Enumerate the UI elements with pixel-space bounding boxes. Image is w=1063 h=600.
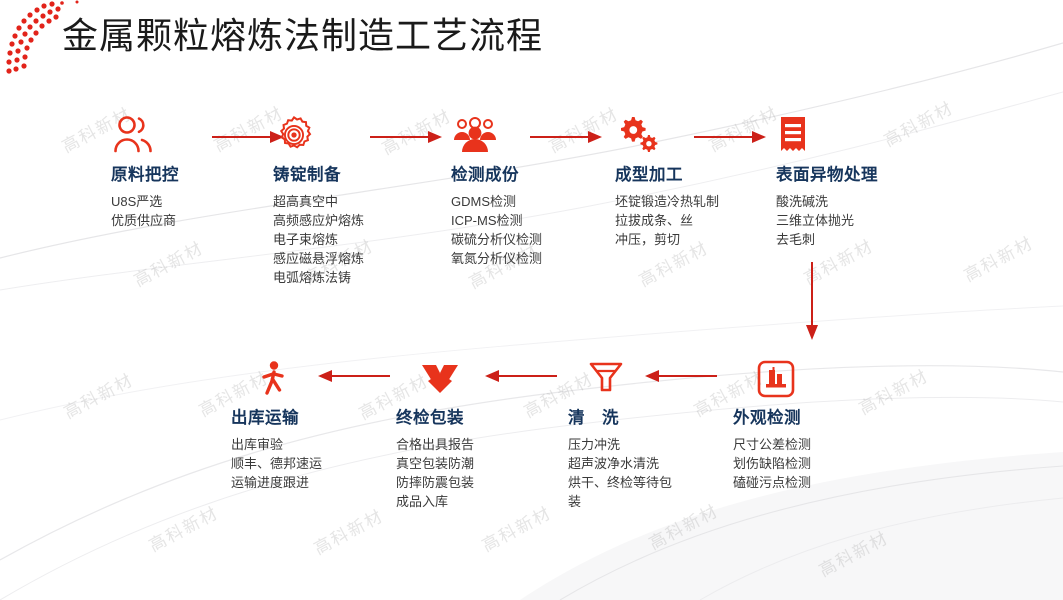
watermark: 高科新材 [144,499,223,557]
step-detail-line: 合格出具报告 [396,435,546,454]
step-raw-material-control[interactable]: 原料把控 U8S严选 优质供应商 [111,115,261,230]
step-detail-lines: 出库审验 顺丰、德邦速运 运输进度跟进 [231,435,381,492]
step-detail-line: 电子束熔炼 [273,230,423,249]
step-icon-wrap [776,115,936,155]
step-detail-line: 高频感应炉熔炼 [273,211,423,230]
step-icon-wrap [111,115,261,155]
watermark: 高科新材 [959,229,1038,287]
step-composition-testing[interactable]: 检测成份 GDMS检测 ICP-MS检测 碳硫分析仪检测 氧氮分析仪检测 [451,115,601,268]
step-icon-wrap [568,358,686,398]
step-icon-wrap [451,115,601,155]
document-lines-icon [776,115,810,155]
step-title: 出库运输 [231,404,381,428]
step-detail-line: 防摔防震包装 [396,473,546,492]
step-detail-line: 顺丰、德邦速运 [231,454,381,473]
step-detail-lines: 压力冲洗 超声波净水清洗 烘干、终检等待包装 [568,435,673,511]
step-appearance-inspection[interactable]: 外观检测 尺寸公差检测 划伤缺陷检测 磕碰污点检测 [733,358,883,492]
step-detail-line: 优质供应商 [111,211,261,230]
step-detail-line: 磕碰污点检测 [733,473,883,492]
step-title: 终检包装 [396,404,546,428]
step-title: 外观检测 [733,404,883,428]
step-detail-line: 三维立体抛光 [776,211,936,230]
step-surface-treatment[interactable]: 表面异物处理 酸洗碱洗 三维立体抛光 去毛刺 [776,115,936,249]
step-detail-lines: 酸洗碱洗 三维立体抛光 去毛刺 [776,192,936,249]
step-cleaning[interactable]: 清 洗 压力冲洗 超声波净水清洗 烘干、终检等待包装 [568,358,686,511]
step-detail-line: 超高真空中 [273,192,423,211]
step-detail-line: 划伤缺陷检测 [733,454,883,473]
step-icon-wrap [231,358,381,398]
arrow-step5-to-step6 [803,262,821,340]
step-detail-line: 碳硫分析仪检测 [451,230,601,249]
step-detail-line: 超声波净水清洗 [568,454,673,473]
people-group-icon [451,115,499,155]
step-detail-line: 出库审验 [231,435,381,454]
step-detail-line: GDMS检测 [451,192,601,211]
step-detail-line: 去毛刺 [776,230,936,249]
step-title: 成型加工 [615,161,775,185]
step-detail-line: 烘干、终检等待包装 [568,473,673,511]
step-detail-lines: 超高真空中 高频感应炉熔炼 电子束熔炼 感应磁悬浮熔炼 电弧熔炼法铸 [273,192,423,287]
step-detail-line: 酸洗碱洗 [776,192,936,211]
step-detail-line: U8S严选 [111,192,261,211]
step-outbound-shipping[interactable]: 出库运输 出库审验 顺丰、德邦速运 运输进度跟进 [231,358,381,492]
step-detail-line: 真空包装防潮 [396,454,546,473]
step-detail-line: 成品入库 [396,492,546,511]
step-title: 清 洗 [568,404,686,428]
open-box-icon [418,360,462,398]
step-title: 检测成份 [451,161,601,185]
step-icon-wrap [396,358,546,398]
double-gear-icon [615,115,661,155]
step-icon-wrap [273,115,423,155]
step-detail-line: ICP-MS检测 [451,211,601,230]
watermark: 高科新材 [309,502,388,560]
step-forming-processing[interactable]: 成型加工 坯锭锻造冷热轧制 拉拔成条、丝 冲压，剪切 [615,115,775,249]
step-detail-lines: 坯锭锻造冷热轧制 拉拔成条、丝 冲压，剪切 [615,192,775,249]
step-title: 铸锭制备 [273,161,423,185]
watermark: 高科新材 [59,366,138,424]
step-icon-wrap [615,115,775,155]
step-detail-line: 电弧熔炼法铸 [273,268,423,287]
step-ingot-preparation[interactable]: 铸锭制备 超高真空中 高频感应炉熔炼 电子束熔炼 感应磁悬浮熔炼 电弧熔炼法铸 [273,115,423,287]
funnel-icon [588,360,624,398]
step-detail-lines: 尺寸公差检测 划伤缺陷检测 磕碰污点检测 [733,435,883,492]
watermark: 高科新材 [129,234,208,292]
step-detail-line: 坯锭锻造冷热轧制 [615,192,775,211]
step-detail-line: 尺寸公差检测 [733,435,883,454]
gear-concentric-icon [273,115,315,155]
step-detail-line: 冲压，剪切 [615,230,775,249]
page-title: 金属颗粒熔炼法制造工艺流程 [62,7,543,59]
two-people-icon [111,115,155,155]
step-detail-line: 感应磁悬浮熔炼 [273,249,423,268]
step-detail-line: 运输进度跟进 [231,473,381,492]
step-detail-lines: GDMS检测 ICP-MS检测 碳硫分析仪检测 氧氮分析仪检测 [451,192,601,268]
watermark: 高科新材 [814,524,893,582]
walking-person-icon [255,360,289,398]
step-detail-line: 压力冲洗 [568,435,673,454]
step-title: 原料把控 [111,161,261,185]
step-detail-lines: U8S严选 优质供应商 [111,192,261,230]
inspection-box-icon [757,360,795,398]
step-detail-line: 氧氮分析仪检测 [451,249,601,268]
step-final-inspection-packaging[interactable]: 终检包装 合格出具报告 真空包装防潮 防摔防震包装 成品入库 [396,358,546,511]
step-title: 表面异物处理 [776,161,936,185]
step-detail-lines: 合格出具报告 真空包装防潮 防摔防震包装 成品入库 [396,435,546,511]
step-icon-wrap [733,358,883,398]
step-detail-line: 拉拔成条、丝 [615,211,775,230]
